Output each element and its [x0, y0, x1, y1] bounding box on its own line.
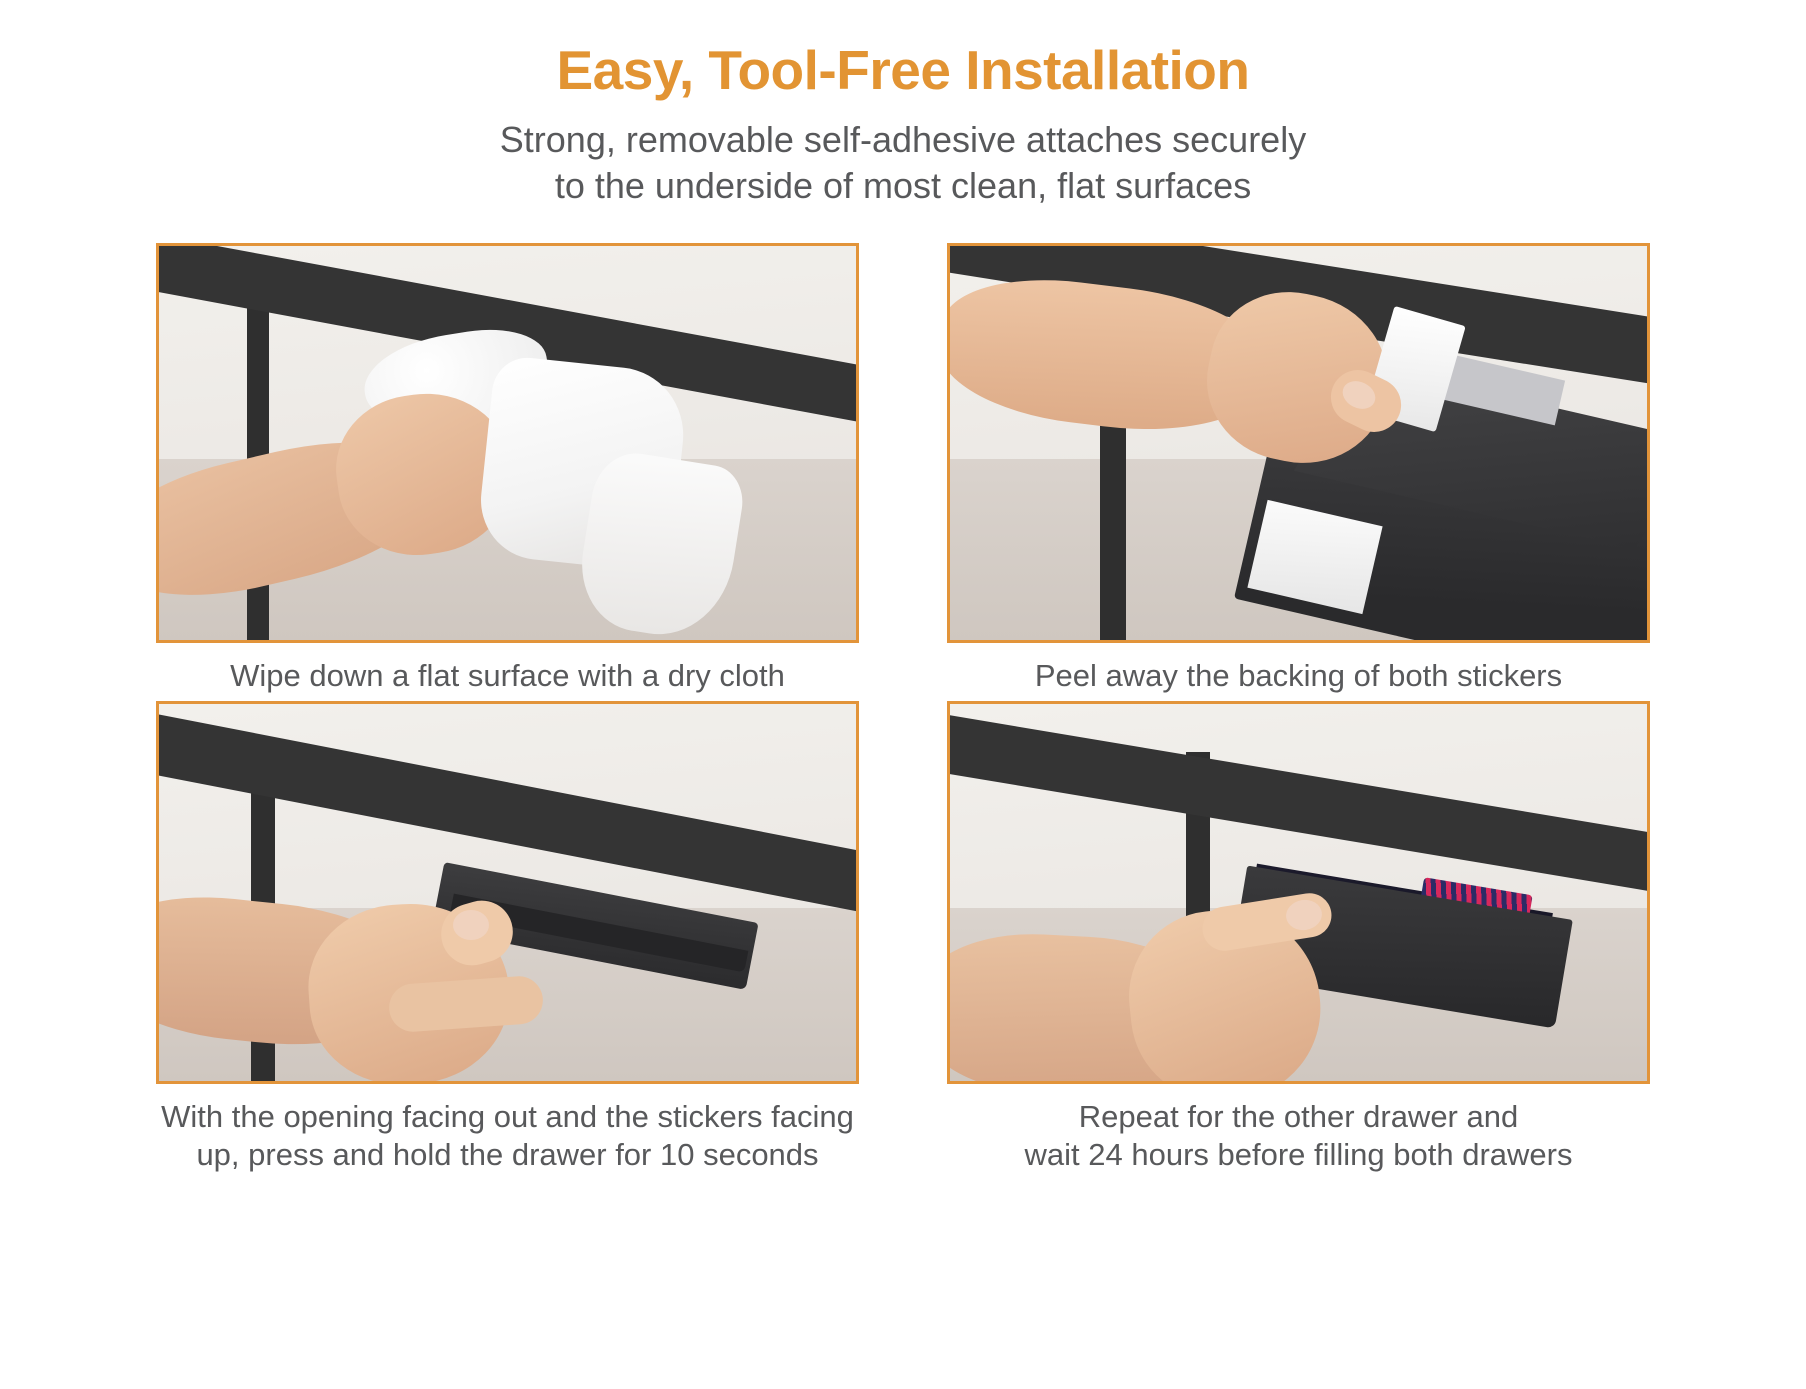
caption-line-1: With the opening facing out and the stic…: [128, 1098, 888, 1136]
step-3-caption: With the opening facing out and the stic…: [128, 1084, 888, 1174]
caption-line-1: Repeat for the other drawer and: [919, 1098, 1679, 1136]
scene-peel-backing: [950, 246, 1647, 640]
step-4-caption: Repeat for the other drawer and wait 24 …: [919, 1084, 1679, 1174]
step-card-3: With the opening facing out and the stic…: [156, 701, 859, 1174]
header: Easy, Tool-Free Installation Strong, rem…: [0, 0, 1806, 209]
steps-grid: Wipe down a flat surface with a dry clot…: [52, 243, 1754, 1174]
step-2-photo: [947, 243, 1650, 643]
step-3-photo: [156, 701, 859, 1084]
scene-press-drawer: [159, 704, 856, 1081]
step-1-caption: Wipe down a flat surface with a dry clot…: [128, 643, 888, 695]
subtitle-line-2: to the underside of most clean, flat sur…: [0, 163, 1806, 209]
thumb-nail: [453, 910, 489, 940]
caption-line-1: Wipe down a flat surface with a dry clot…: [128, 657, 888, 695]
step-card-4: Repeat for the other drawer and wait 24 …: [947, 701, 1650, 1174]
caption-line-2: up, press and hold the drawer for 10 sec…: [128, 1136, 888, 1174]
scene-filled-drawer: [950, 704, 1647, 1081]
infographic-page: Easy, Tool-Free Installation Strong, rem…: [0, 0, 1806, 1389]
scene-wipe-surface: [159, 246, 856, 640]
page-title: Easy, Tool-Free Installation: [0, 42, 1806, 100]
step-card-1: Wipe down a flat surface with a dry clot…: [156, 243, 859, 695]
step-4-photo: [947, 701, 1650, 1084]
caption-line-1: Peel away the backing of both stickers: [919, 657, 1679, 695]
step-2-caption: Peel away the backing of both stickers: [919, 643, 1679, 695]
page-subtitle: Strong, removable self-adhesive attaches…: [0, 117, 1806, 209]
step-1-photo: [156, 243, 859, 643]
step-card-2: Peel away the backing of both stickers: [947, 243, 1650, 695]
subtitle-line-1: Strong, removable self-adhesive attaches…: [0, 117, 1806, 163]
caption-line-2: wait 24 hours before filling both drawer…: [919, 1136, 1679, 1174]
